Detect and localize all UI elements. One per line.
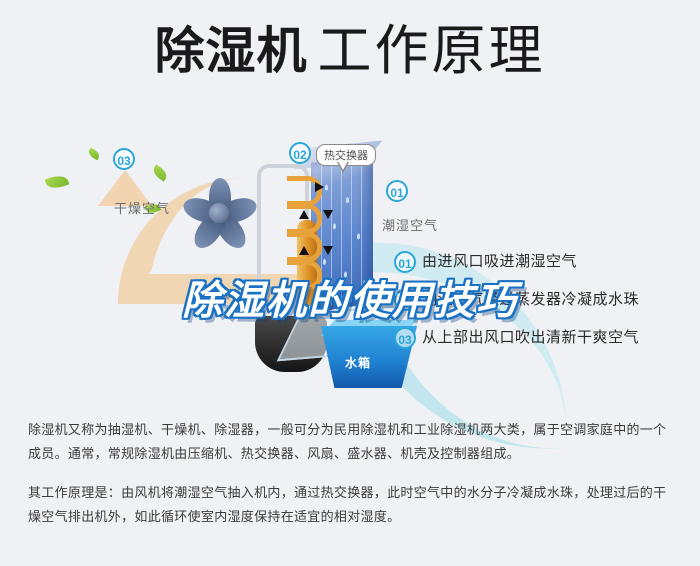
flow-arrow-up-icon	[299, 210, 309, 219]
evaporator-fin	[361, 159, 362, 301]
badge-dry-air: 03	[113, 148, 135, 170]
label-humid-air: 潮湿空气	[382, 215, 438, 234]
flow-arrow-right-icon	[315, 182, 324, 192]
list-item: 02 潮湿空气经过蒸发器冷凝成水珠	[394, 288, 694, 326]
step-badge: 03	[394, 327, 416, 349]
fan-hub	[209, 203, 229, 223]
leaf-icon	[45, 173, 70, 191]
badge-heat-exchanger: 02	[289, 142, 311, 164]
flow-arrow-up-icon	[299, 246, 309, 255]
body-paragraph-1: 除湿机又称为抽湿机、干燥机、除湿器，一般可分为民用除湿机和工业除湿机两大类，属于…	[28, 418, 676, 466]
list-item: 01 由进风口吸进潮湿空气	[394, 250, 694, 288]
evaporator-fin	[331, 164, 332, 306]
flow-arrow-down-icon	[323, 246, 333, 255]
step-badge: 02	[394, 289, 416, 311]
evaporator-fin	[351, 160, 352, 302]
callout-stem	[337, 162, 349, 173]
title-part-primary: 除湿机	[155, 22, 308, 80]
steps-list: 01 由进风口吸进潮湿空气 02 潮湿空气经过蒸发器冷凝成水珠 03 从上部出风…	[394, 250, 694, 364]
dehumidifier-unit: 水箱	[233, 158, 393, 378]
step-badge: 01	[394, 251, 416, 273]
body-paragraph-2: 其工作原理是：由风机将潮湿空气抽入机内，通过热交换器，此时空气中的水分子冷凝成水…	[28, 481, 676, 529]
step-text: 由进风口吸进潮湿空气	[422, 250, 577, 274]
condensation-droplet	[333, 223, 336, 229]
coil-loop	[287, 260, 322, 290]
label-dry-air: 干燥空气	[114, 198, 170, 217]
evaporator-fin	[341, 162, 342, 304]
badge-humid-air: 01	[386, 180, 408, 202]
condensation-droplet	[325, 184, 328, 190]
coil-loop	[287, 204, 322, 234]
page-title: 除湿机工作原理	[0, 22, 700, 80]
flow-arrow-down-icon	[323, 210, 333, 219]
step-text: 潮湿空气经过蒸发器冷凝成水珠	[422, 288, 639, 312]
condenser-coils	[279, 176, 325, 294]
condensation-droplet	[357, 233, 360, 239]
condensation-droplet	[346, 197, 349, 203]
step-text: 从上部出风口吹出清新干爽空气	[422, 326, 639, 350]
condensation-droplet	[344, 271, 347, 277]
water-tank-label: 水箱	[345, 354, 371, 371]
condensation-droplet	[363, 280, 366, 286]
title-part-secondary: 工作原理	[318, 22, 546, 80]
list-item: 03 从上部出风口吹出清新干爽空气	[394, 326, 694, 364]
